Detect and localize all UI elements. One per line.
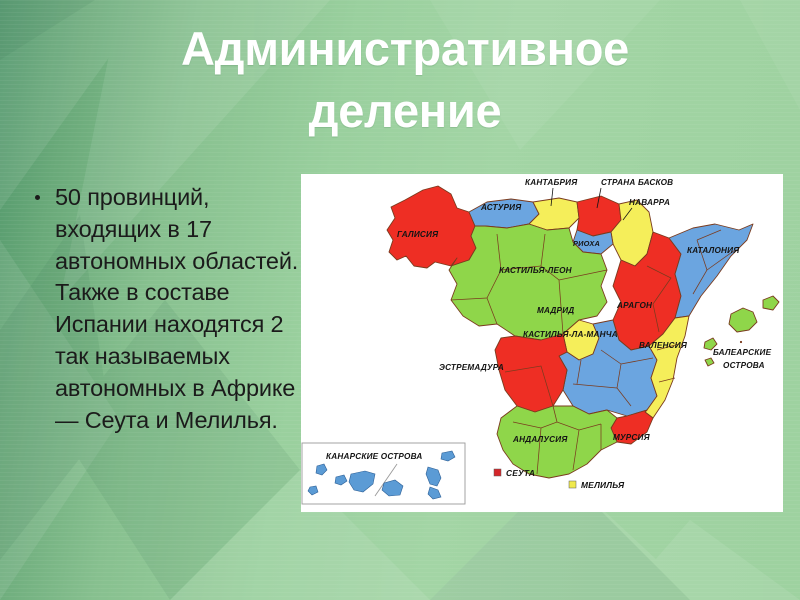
map-label-aragon: АРАГОН [616,301,653,310]
region-extremadura[interactable] [495,334,567,412]
map-label-valencia: ВАЛЕНСИЯ [639,341,688,350]
legend-item-melilla[interactable]: МЕЛИЛЬЯ [569,480,625,490]
map-label-cantabria: КАНТАБРИЯ [525,178,578,187]
map-label-asturias: АСТУРИЯ [480,203,522,212]
legend-swatch-melilla [569,481,576,488]
bullet-dot-icon [35,195,40,200]
legend-label-ceuta: СЕУТА [506,468,535,478]
map-label-la-rioja: РИОХА [573,239,600,248]
map-label-galicia: ГАЛИСИЯ [397,230,439,239]
map-label-balearic-line2: ОСТРОВА [723,361,765,370]
map-label-murcia: МУРСИЯ [613,433,651,442]
map-label-castilla-la-mancha: КАСТИЛЬЯ-ЛА-МАНЧА [523,330,618,339]
list-item: 50 провинций, входящих в 17 автономных о… [28,182,310,436]
map-label-castilla-y-leon: КАСТИЛЬЯ-ЛЕОН [499,266,573,275]
region-galicia[interactable] [387,186,476,268]
spain-administrative-map: ГАЛИСИЯ АСТУРИЯ КАНТАБРИЯ СТРАНА БАСКОВ … [301,174,783,512]
slide-canvas: Административное деление 50 провинций, в… [0,0,800,600]
bullet-text: 50 провинций, входящих в 17 автономных о… [55,184,298,433]
legend-swatch-ceuta [494,469,501,476]
map-label-basque-country: СТРАНА БАСКОВ [601,178,673,187]
map-label-andalusia: АНДАЛУСИЯ [512,435,568,444]
map-label-extremadura: ЭСТРЕМАДУРА [439,363,504,372]
legend-item-ceuta[interactable]: СЕУТА [494,468,535,478]
page-title: Административное деление [60,18,750,142]
region-catalonia[interactable] [669,224,753,318]
map-label-madrid: МАДРИД [537,306,574,315]
map-label-canary-islands: КАНАРСКИЕ ОСТРОВА [326,452,423,461]
canary-islands-inset[interactable]: КАНАРСКИЕ ОСТРОВА [302,443,465,504]
map-label-balearic-line1: БАЛЕАРСКИЕ [713,348,772,357]
bullet-list: 50 провинций, входящих в 17 автономных о… [28,182,310,436]
map-label-navarra: НАВАРРА [629,198,670,207]
map-panel: ГАЛИСИЯ АСТУРИЯ КАНТАБРИЯ СТРАНА БАСКОВ … [301,174,783,512]
legend-label-melilla: МЕЛИЛЬЯ [581,480,625,490]
map-label-catalonia: КАТАЛОНИЯ [687,246,740,255]
